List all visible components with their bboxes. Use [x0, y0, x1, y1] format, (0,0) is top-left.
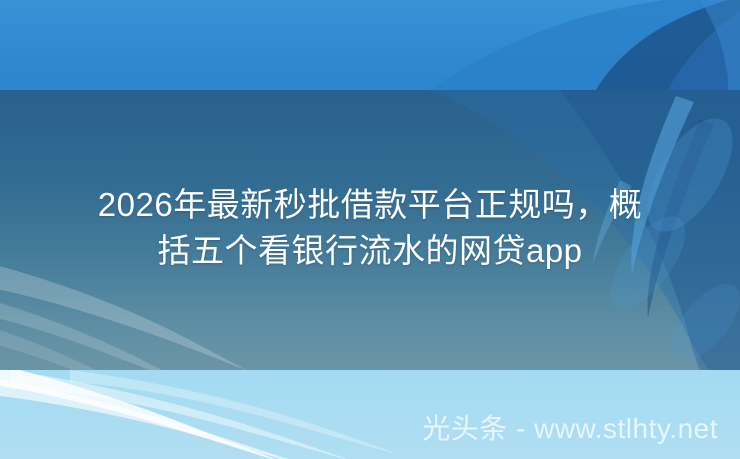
- title-line-1: 2026年最新秒批借款平台正规吗，概: [26, 182, 714, 228]
- title-line-2: 括五个看银行流水的网贷app: [26, 228, 714, 274]
- page-title: 2026年最新秒批借款平台正规吗，概 括五个看银行流水的网贷app: [0, 182, 740, 274]
- banner-image: 2026年最新秒批借款平台正规吗，概 括五个看银行流水的网贷app 光头条 - …: [0, 0, 740, 459]
- background-band-top: [0, 0, 740, 90]
- watermark-text: 光头条 - www.stlhty.net: [422, 410, 718, 448]
